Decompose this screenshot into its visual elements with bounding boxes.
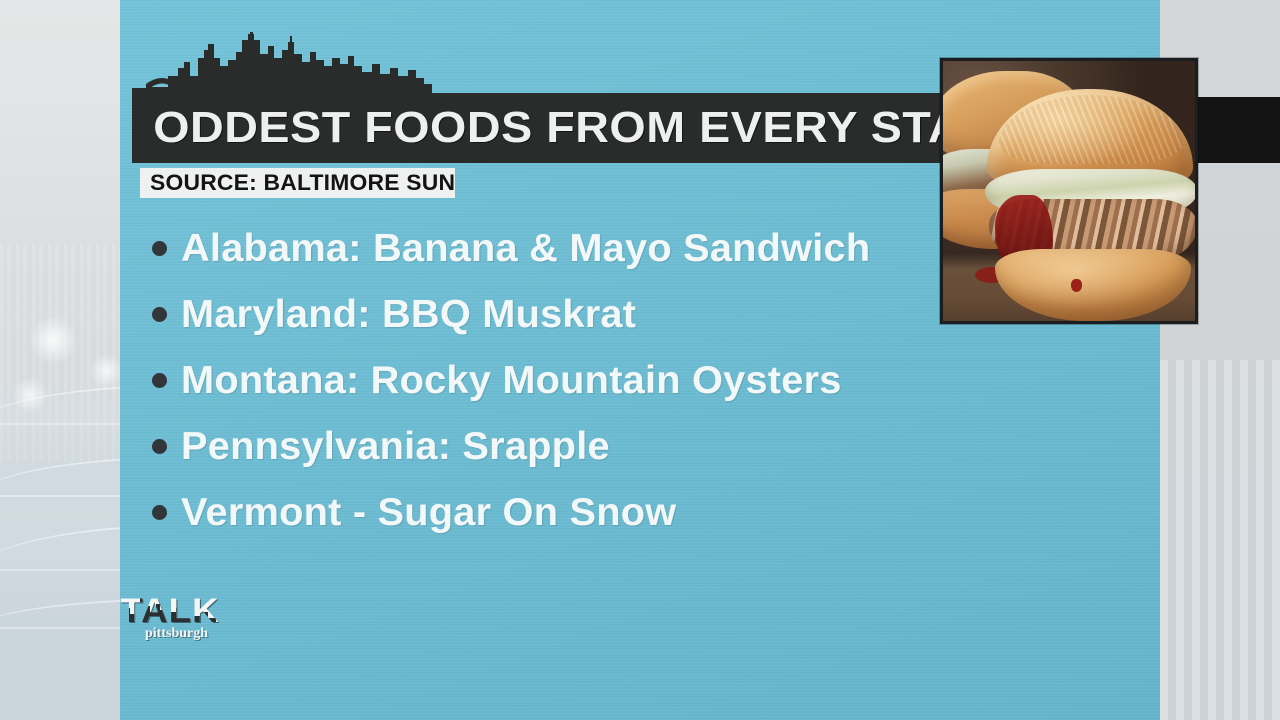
talk-pittsburgh-logo: TALK TALK TALK pittsburgh pittsburgh	[116, 588, 228, 644]
pulled-pork-sandwich-image	[943, 61, 1195, 321]
list-item-label: Alabama: Banana & Mayo Sandwich	[181, 229, 870, 268]
bullet-dot-icon	[152, 505, 167, 520]
broadcast-lower-third-graphic: ODDEST FOODS FROM EVERY STATE SOURCE: BA…	[0, 0, 1280, 720]
sauce-drip	[1071, 279, 1082, 292]
bullet-dot-icon	[152, 373, 167, 388]
bullet-dot-icon	[152, 307, 167, 322]
bullet-dot-icon	[152, 439, 167, 454]
list-item-label: Vermont - Sugar On Snow	[181, 493, 676, 532]
list-item: Maryland: BBQ Muskrat	[146, 281, 946, 347]
bullet-dot-icon	[152, 241, 167, 256]
list-item: Pennsylvania: Srapple	[146, 413, 946, 479]
front-sandwich-bottom-bun	[995, 249, 1191, 321]
list-item-label: Maryland: BBQ Muskrat	[181, 295, 636, 334]
source-bar: SOURCE: BALTIMORE SUN	[140, 168, 455, 198]
list-item: Alabama: Banana & Mayo Sandwich	[146, 215, 946, 281]
pittsburgh-skyline-icon	[132, 32, 432, 96]
list-item-label: Pennsylvania: Srapple	[181, 427, 610, 466]
list-item: Montana: Rocky Mountain Oysters	[146, 347, 946, 413]
headline-text: ODDEST FOODS FROM EVERY STATE	[132, 106, 1019, 150]
food-photo	[940, 58, 1198, 324]
headline-bar-right-block	[1198, 97, 1280, 163]
list-item: Vermont - Sugar On Snow	[146, 479, 946, 545]
food-list: Alabama: Banana & Mayo Sandwich Maryland…	[146, 215, 946, 545]
list-item-label: Montana: Rocky Mountain Oysters	[181, 361, 842, 400]
source-text: SOURCE: BALTIMORE SUN	[150, 172, 455, 194]
pittsburgh-wordmark: pittsburgh	[145, 626, 208, 641]
